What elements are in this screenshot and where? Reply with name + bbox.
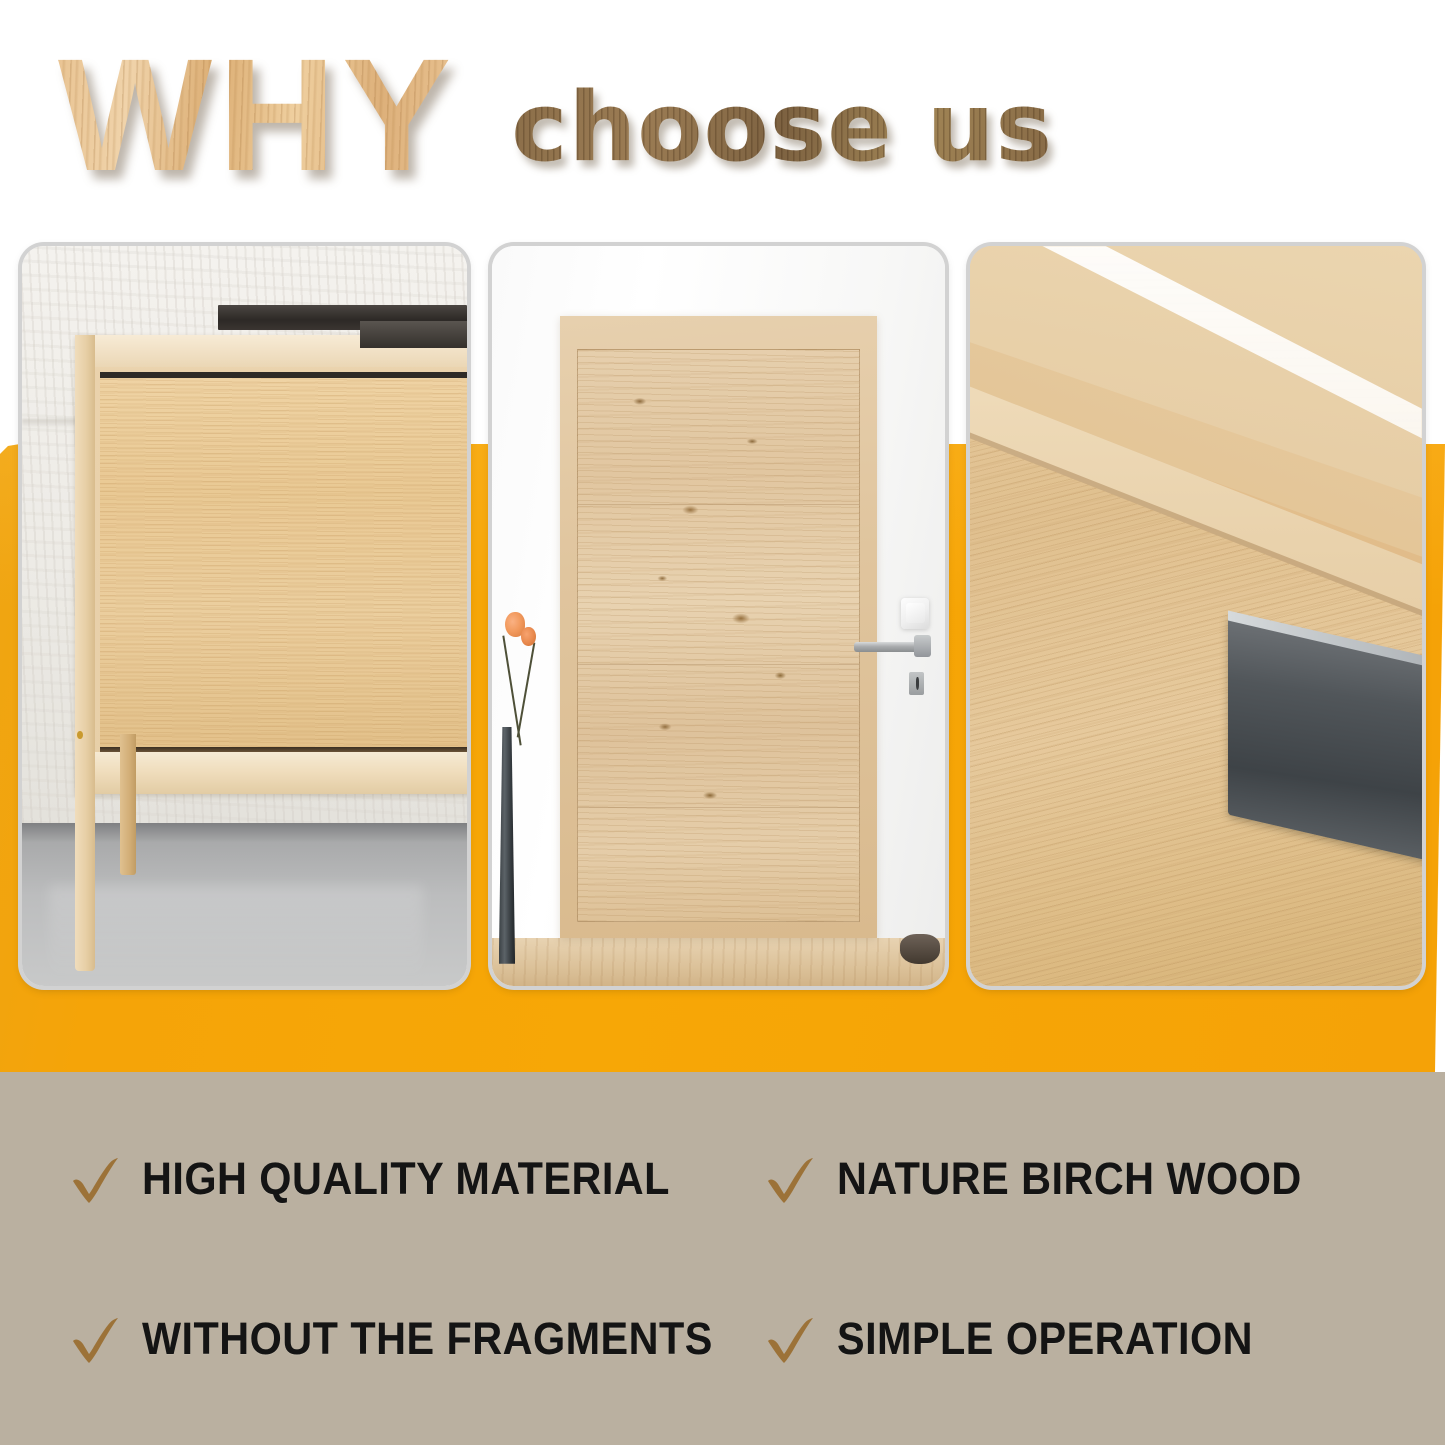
floor-reflection	[49, 885, 423, 983]
cabinet-rear-leg	[120, 734, 136, 875]
light-switch-rocker	[906, 603, 925, 623]
wood-cabinet	[75, 335, 467, 794]
check-icon	[763, 1311, 819, 1367]
door-handle-rosette	[914, 635, 930, 657]
feature-item-nature-birch-wood: NATURE BIRCH WOOD	[723, 1099, 1445, 1259]
door-mat	[900, 934, 941, 964]
door-plank-seam	[578, 807, 858, 808]
door-photo	[492, 246, 945, 986]
feature-label: WITHOUT THE FRAGMENTS	[142, 1313, 713, 1365]
feature-item-simple-operation: SIMPLE OPERATION	[723, 1259, 1445, 1419]
feature-item-without-the-fragments: WITHOUT THE FRAGMENTS	[0, 1259, 723, 1419]
infographic-canvas: HIGH QUALITY MATERIAL NATURE BIRCH WOOD …	[0, 0, 1445, 1445]
cabinet-front-leg	[75, 335, 95, 971]
door-plank-seam	[578, 664, 858, 665]
page-title-secondary: choose us	[511, 81, 1053, 176]
gallery-card-cabinet[interactable]	[22, 246, 467, 986]
door-frame	[560, 316, 877, 938]
header: WHY choose us	[0, 0, 1445, 230]
feature-label: NATURE BIRCH WOOD	[837, 1153, 1302, 1205]
keyhole-icon	[916, 677, 920, 690]
feature-label: HIGH QUALITY MATERIAL	[142, 1153, 670, 1205]
check-icon	[68, 1311, 124, 1367]
wood-floor	[492, 938, 945, 986]
gallery-card-door[interactable]	[492, 246, 945, 986]
oak-door-panel	[577, 349, 859, 923]
light-switch	[901, 598, 929, 629]
check-icon	[763, 1151, 819, 1207]
page-title-primary: WHY	[58, 35, 465, 195]
feature-label: SIMPLE OPERATION	[837, 1313, 1253, 1365]
cabinet-photo	[22, 246, 467, 986]
feature-item-high-quality-material: HIGH QUALITY MATERIAL	[0, 1099, 723, 1259]
drawer-handle-block	[360, 321, 467, 348]
door-plank-seam	[578, 504, 858, 505]
cabinet-drawer-front	[100, 372, 467, 753]
brass-screw-icon	[77, 731, 83, 739]
drawer-edge-photo	[970, 246, 1422, 986]
gallery-card-drawer-edge[interactable]	[970, 246, 1422, 986]
features-panel: HIGH QUALITY MATERIAL NATURE BIRCH WOOD …	[0, 1072, 1445, 1445]
check-icon	[68, 1151, 124, 1207]
